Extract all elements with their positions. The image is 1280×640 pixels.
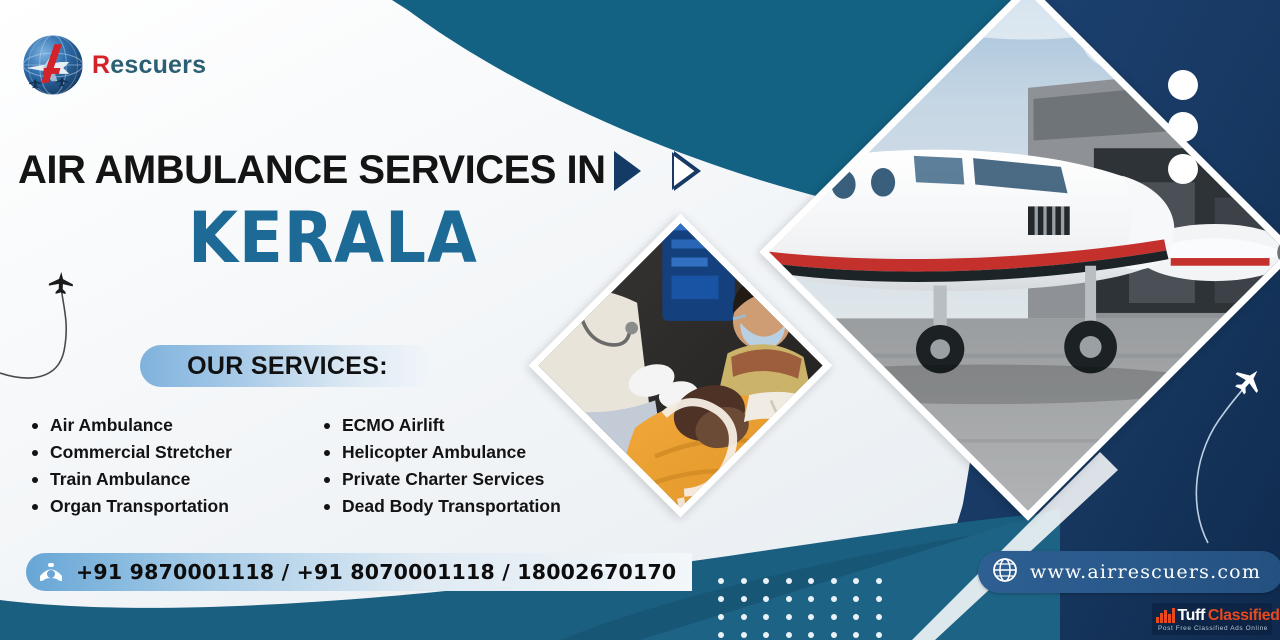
circle-decoration-group (1168, 70, 1198, 196)
airplane-trail-right (1180, 355, 1280, 545)
list-item: Private Charter Services (322, 466, 561, 493)
list-item: Air Ambulance (30, 412, 232, 439)
brand-name-accent: R (92, 51, 110, 79)
tuffclassified-watermark: Tuff Classified Post Free Classified Ads… (1152, 603, 1272, 635)
globe-icon (992, 557, 1018, 588)
arrow-group (614, 151, 701, 191)
list-item: Train Ambulance (30, 466, 232, 493)
headline-location: KERALA (188, 203, 478, 273)
plane-icon (1229, 361, 1268, 399)
headline: AIR AMBULANCE SERVICES IN (18, 148, 701, 193)
phone-contact-bar[interactable]: +91 9870001118 / +91 8070001118 / 180026… (26, 553, 692, 591)
watermark-tagline: Post Free Classified Ads Online (1158, 625, 1272, 632)
plane-icon (49, 272, 74, 295)
brand-name-rest: escuers (110, 51, 206, 79)
services-column-1: Air Ambulance Commercial Stretcher Train… (30, 412, 232, 520)
circle-decoration (1168, 112, 1198, 142)
watermark-name-2: Classified (1208, 607, 1280, 625)
list-item: Commercial Stretcher (30, 439, 232, 466)
phone-numbers: +91 9870001118 / +91 8070001118 / 180026… (76, 560, 676, 584)
headline-main: AIR AMBULANCE SERVICES IN (18, 148, 606, 193)
solid-triangle-right-icon (614, 151, 641, 191)
globe-plane-logo-icon (16, 28, 90, 102)
list-item: Helicopter Ambulance (322, 439, 561, 466)
dot-grid-decoration (718, 578, 882, 640)
brand-logo[interactable]: Rescuers (16, 28, 206, 102)
list-item: Dead Body Transportation (322, 493, 561, 520)
brand-name: Rescuers (92, 51, 206, 80)
circle-decoration (1168, 70, 1198, 100)
telephone-icon (36, 557, 66, 587)
website-url: www.airrescuers.com (1030, 561, 1261, 583)
watermark-name-1: Tuff (1178, 607, 1205, 625)
ad-banner: Rescuers AIR AMBULANCE SERVICES IN KERAL… (0, 0, 1280, 640)
circle-decoration (1168, 154, 1198, 184)
services-heading-label: OUR SERVICES: (187, 352, 388, 381)
list-item: ECMO Airlift (322, 412, 561, 439)
website-pill[interactable]: www.airrescuers.com (978, 551, 1280, 593)
outline-triangle-right-icon (644, 151, 671, 191)
bar-chart-icon (1156, 608, 1175, 623)
list-item: Organ Transportation (30, 493, 232, 520)
services-column-2: ECMO Airlift Helicopter Ambulance Privat… (322, 412, 561, 520)
services-heading-pill: OUR SERVICES: (140, 345, 435, 387)
